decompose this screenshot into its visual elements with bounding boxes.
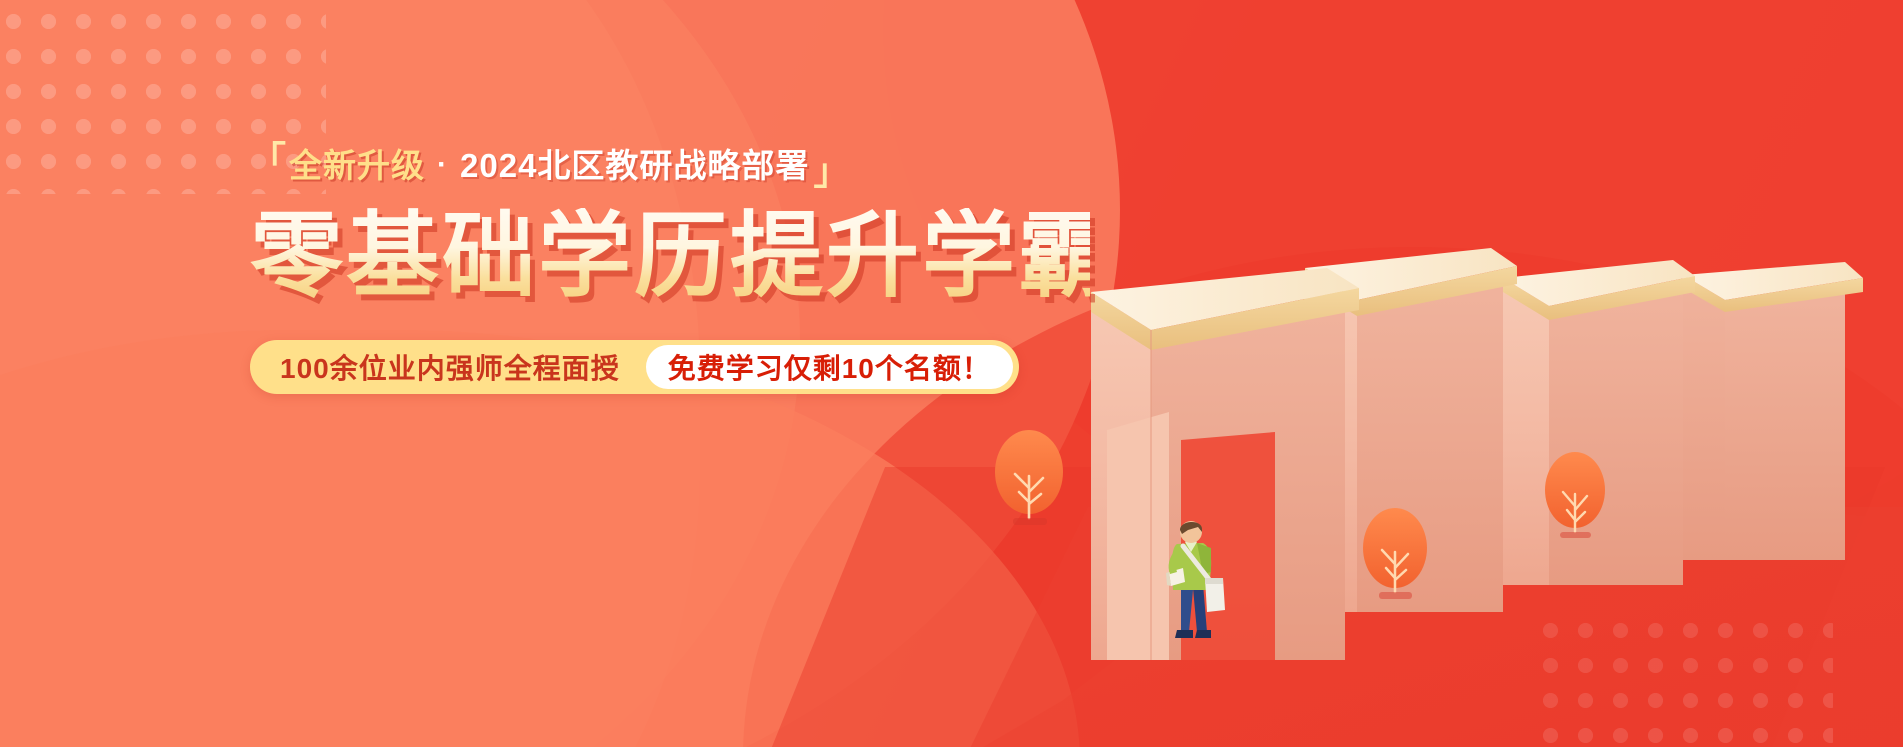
promo-pill[interactable]: 100余位业内强师全程面授 免费学习仅剩10个名额！ [250,340,1019,394]
eyebrow-separator-icon: · [437,150,448,180]
eyebrow-gold-text: 全新升级 [289,149,425,182]
banner-content: 「 全新升级 · 2024北区教研战略部署 」 零基础学历提升学霸班 100余位… [250,140,1090,394]
promo-pill-left-label: 100余位业内强师全程面授 [280,347,646,387]
promo-banner: 「 全新升级 · 2024北区教研战略部署 」 零基础学历提升学霸班 100余位… [0,0,1903,747]
eyebrow-subtitle: 「 全新升级 · 2024北区教研战略部署 」 [250,140,1090,190]
bracket-open-icon: 「 [250,142,287,178]
page-title: 零基础学历提升学霸班 [250,208,1090,306]
promo-pill-right-badge: 免费学习仅剩10个名额！ [646,345,1013,389]
eyebrow-white-text: 2024北区教研战略部署 [460,149,809,182]
bracket-close-icon: 」 [813,154,850,190]
